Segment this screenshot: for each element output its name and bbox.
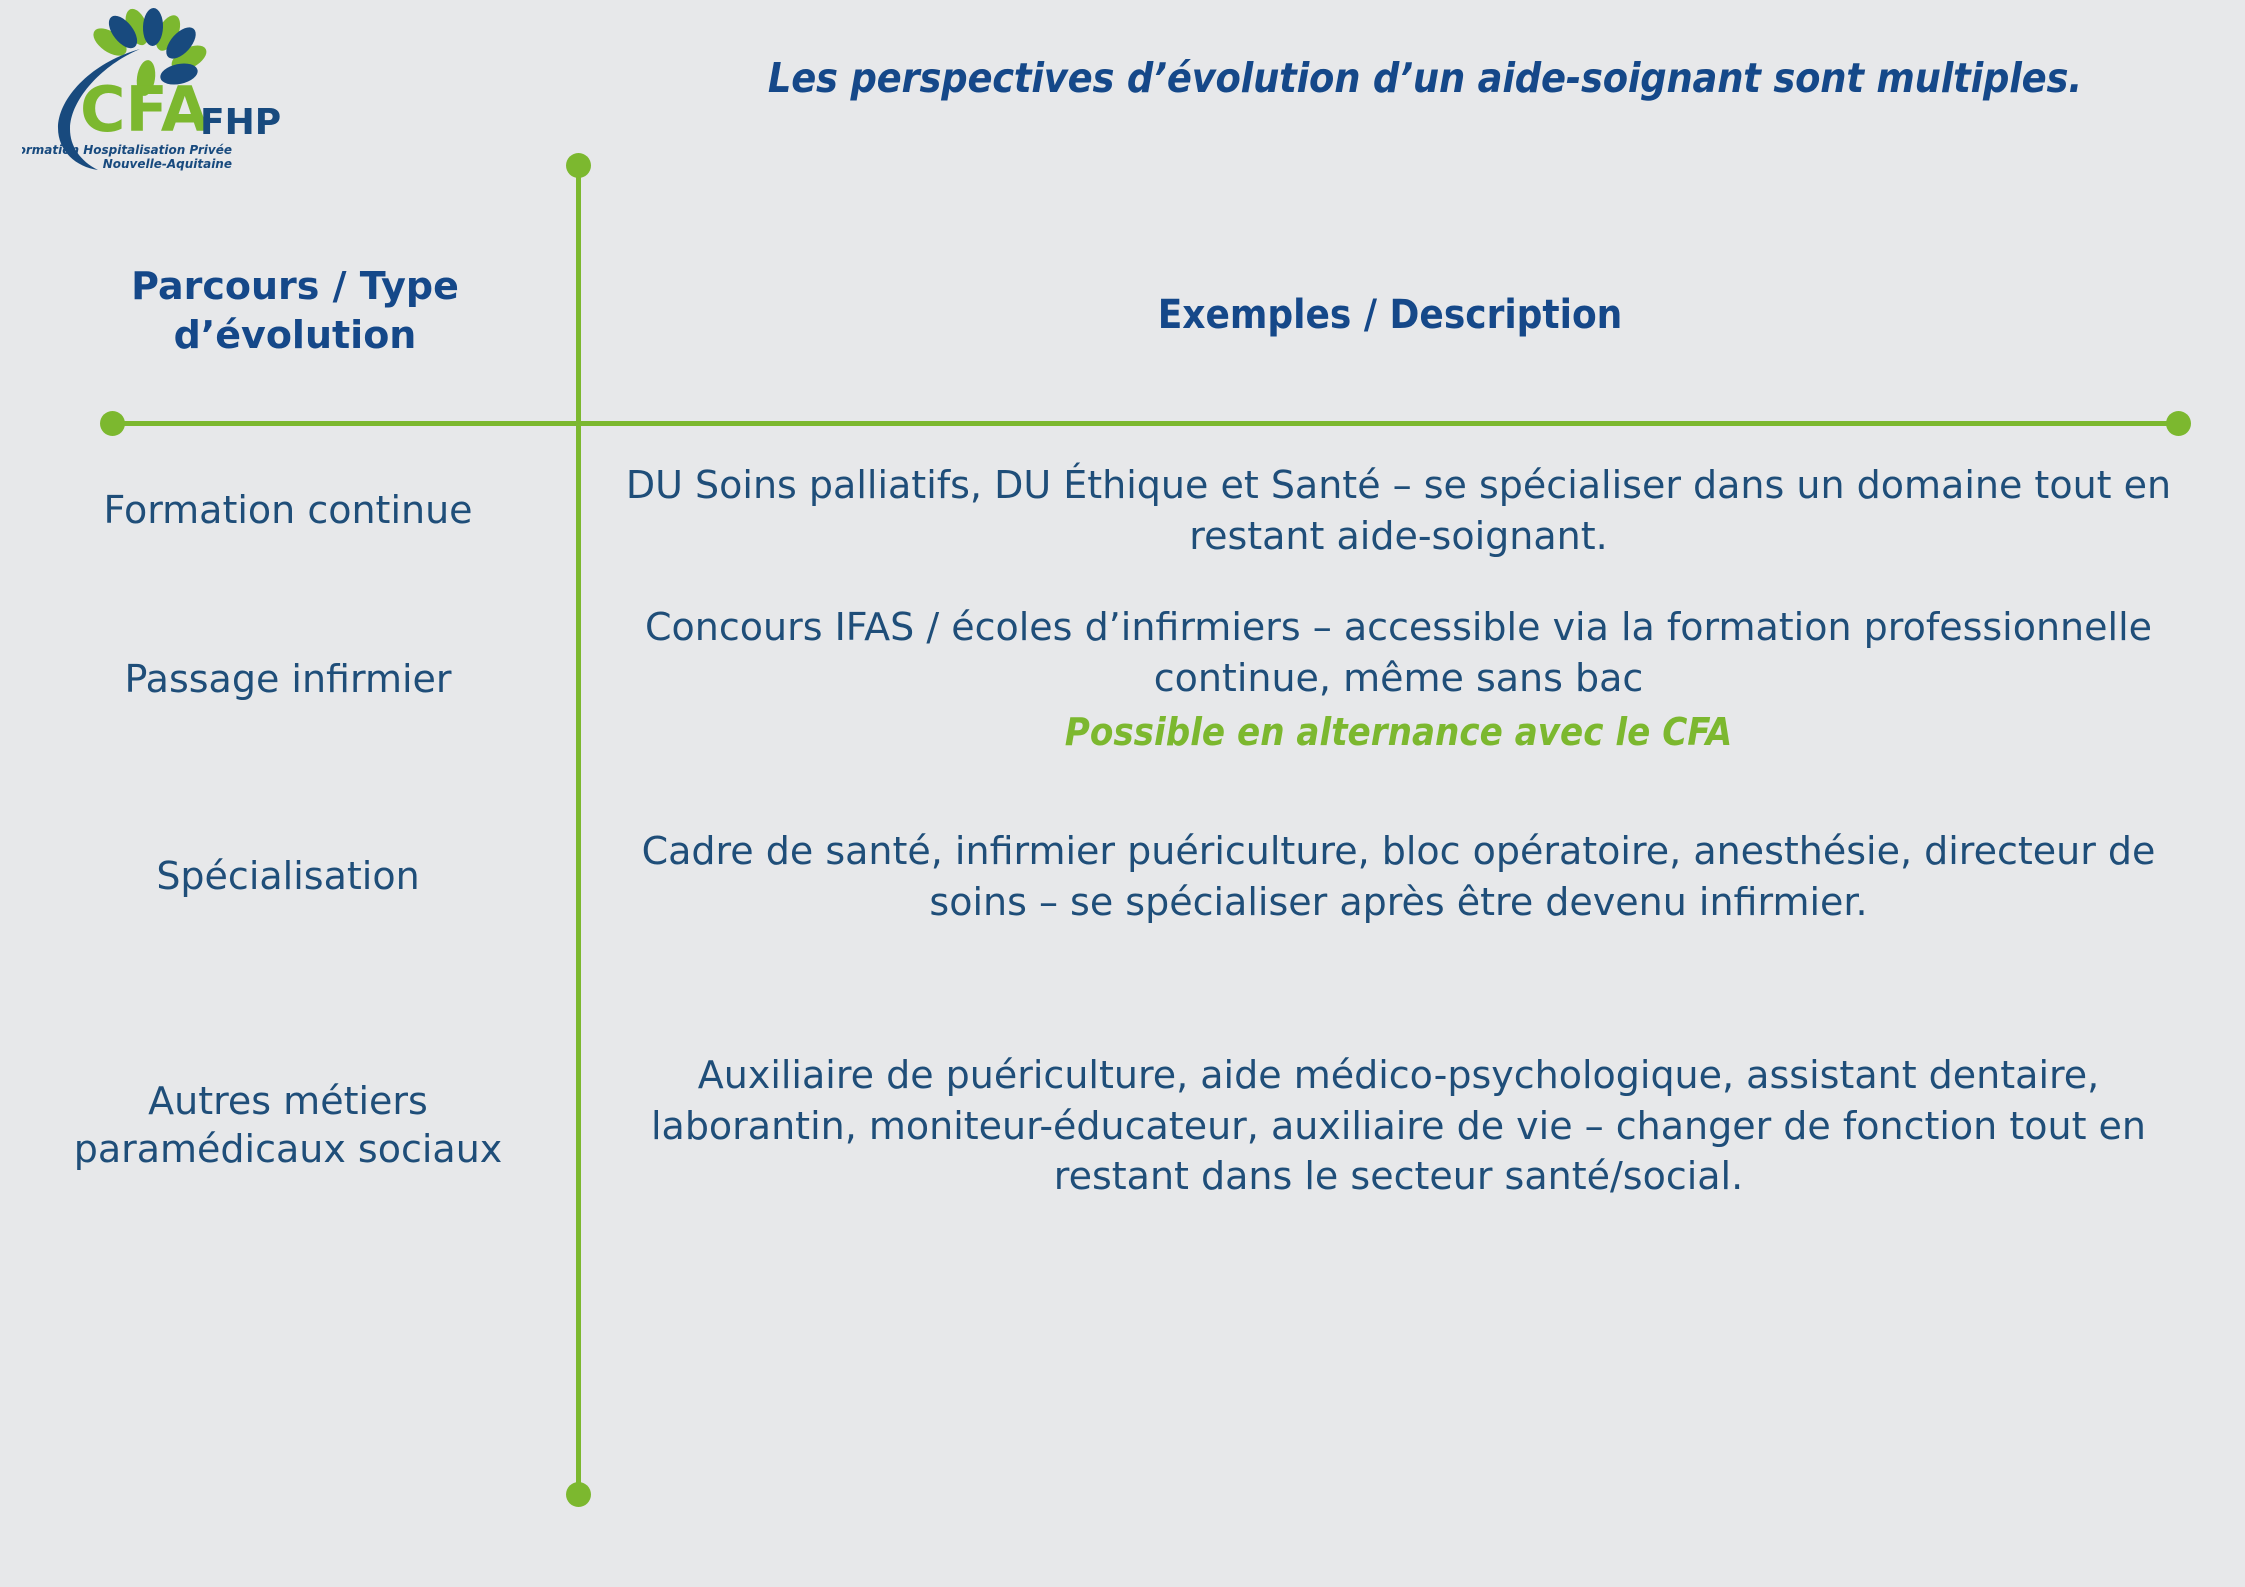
row-description-text: DU Soins palliatifs, DU Éthique et Santé… — [626, 463, 2171, 558]
table-row: Passage infirmier Concours IFAS / écoles… — [0, 582, 2245, 778]
logo-suffix: FHP — [200, 102, 281, 143]
row-description-text: Auxiliaire de puériculture, aide médico-… — [651, 1053, 2146, 1198]
column-header-exemples: Exemples / Description — [620, 292, 2160, 338]
row-description: Concours IFAS / écoles d’infirmiers – ac… — [576, 602, 2245, 758]
divider-dot-right — [2166, 411, 2191, 436]
row-description: DU Soins palliatifs, DU Éthique et Santé… — [576, 460, 2245, 561]
logo-tagline-line2: Nouvelle-Aquitaine — [103, 157, 232, 171]
column-header-parcours-line1: Parcours / Type — [131, 264, 459, 308]
horizontal-divider-line — [112, 421, 2179, 426]
column-header-parcours: Parcours / Type d’évolution — [30, 262, 560, 359]
logo-acronym: CFA — [80, 73, 209, 146]
row-label: Formation continue — [0, 487, 576, 535]
table-row: Formation continue DU Soins palliatifs, … — [0, 440, 2245, 582]
table-row: Spécialisation Cadre de santé, infirmier… — [0, 778, 2245, 976]
evolution-table: Formation continue DU Soins palliatifs, … — [0, 440, 2245, 1276]
row-description: Auxiliaire de puériculture, aide médico-… — [576, 1050, 2245, 1202]
slide-title: Les perspectives d’évolution d’un aide-s… — [700, 54, 2150, 102]
divider-dot-top — [566, 153, 591, 178]
row-description-text: Concours IFAS / écoles d’infirmiers – ac… — [645, 605, 2152, 700]
row-description-text: Cadre de santé, infirmier puériculture, … — [642, 829, 2156, 924]
row-label: Passage infirmier — [0, 656, 576, 704]
logo-tagline-line1: Formation Hospitalisation Privée — [22, 143, 232, 157]
cfa-fhp-logo: CFA FHP Formation Hospitalisation Privée… — [22, 6, 312, 186]
row-description-highlight: Possible en alternance avec le CFA — [608, 707, 2189, 758]
row-label: Autres métiers paramédicaux sociaux — [0, 1078, 576, 1174]
column-header-parcours-line2: d’évolution — [174, 313, 417, 357]
row-description: Cadre de santé, infirmier puériculture, … — [576, 826, 2245, 927]
divider-dot-bottom — [566, 1482, 591, 1507]
divider-dot-left — [100, 411, 125, 436]
row-label: Spécialisation — [0, 853, 576, 901]
table-row: Autres métiers paramédicaux sociaux Auxi… — [0, 976, 2245, 1276]
